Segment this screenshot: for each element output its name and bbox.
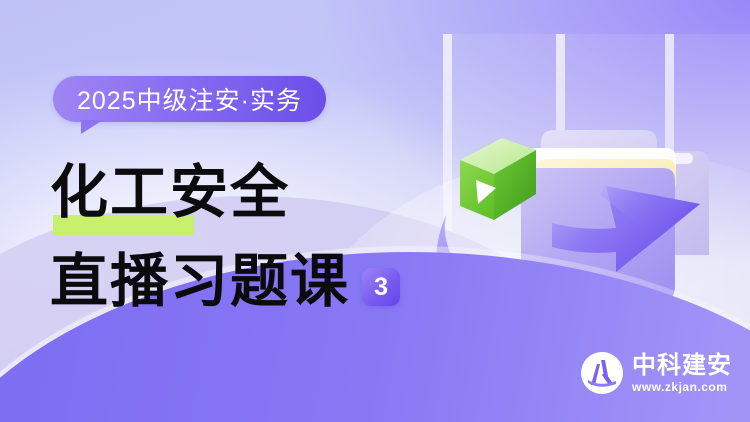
person-circle-icon (581, 352, 623, 394)
course-banner: 2025中级注安·实务 化工安全 直播习题课 3 中科建安 www.zkjan.… (0, 0, 750, 422)
brand-name: 中科建安 (632, 353, 732, 377)
brand-logo: 中科建安 www.zkjan.com (581, 352, 732, 394)
course-title-line2-row: 直播习题课 3 (50, 252, 400, 310)
course-category-badge: 2025中级注安·实务 (53, 76, 326, 122)
episode-number-badge: 3 (362, 268, 400, 306)
course-title-line1: 化工安全 (50, 163, 290, 221)
course-category-label: 2025中级注安·实务 (77, 81, 302, 117)
course-title-line2: 直播习题课 (50, 252, 350, 310)
brand-text: 中科建安 www.zkjan.com (632, 353, 732, 393)
brand-url: www.zkjan.com (632, 381, 732, 393)
